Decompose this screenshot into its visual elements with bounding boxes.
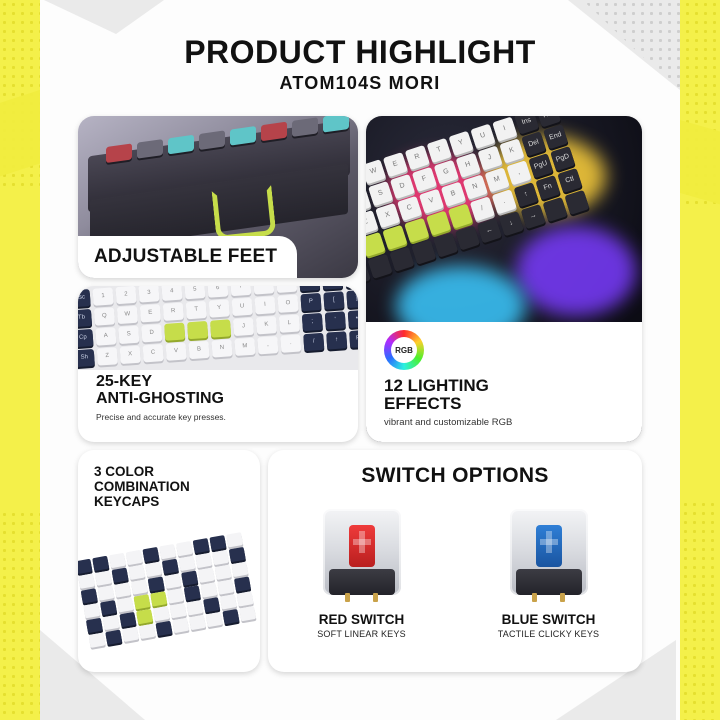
keycap: E xyxy=(140,304,161,322)
keycap: 1 xyxy=(93,287,114,305)
keycap: I xyxy=(255,296,276,314)
keycap: G xyxy=(434,160,459,185)
lighting-title-line2: EFFECTS xyxy=(384,395,512,413)
blue-switch-desc: TACTILE CLICKY KEYS xyxy=(474,629,624,639)
keycap xyxy=(170,603,187,618)
keycap: [ xyxy=(323,291,344,309)
keycap xyxy=(139,624,156,639)
keycap: 4 xyxy=(161,286,182,301)
keycap xyxy=(193,538,210,553)
keycap xyxy=(172,618,189,633)
card-anti-ghosting: Esc 1 2 3 4 5 6 7 8 9 0 - = Tb Q xyxy=(78,286,358,442)
keycap xyxy=(217,579,234,594)
keycap: / xyxy=(303,333,324,351)
keycap: T xyxy=(427,138,452,163)
keycap xyxy=(145,562,162,577)
keycap: 6 xyxy=(207,286,228,298)
adjustable-feet-label: ADJUSTABLE FEET xyxy=(78,236,297,278)
keycap: ] xyxy=(346,290,358,308)
keycap: N xyxy=(211,339,232,357)
keycap: S xyxy=(368,181,393,206)
keycap: E xyxy=(383,152,408,177)
stem-cross-horizontal xyxy=(540,539,558,545)
anti-ghosting-title-line2: ANTI-GHOSTING xyxy=(96,391,226,408)
keycap: D xyxy=(141,324,162,342)
keycap: ↑ xyxy=(514,182,539,207)
keycap: ↓ xyxy=(499,211,524,236)
keycap: U xyxy=(470,124,495,149)
switch-options-list: RED SWITCH SOFT LINEAR KEYS xyxy=(268,498,642,639)
keycap: , xyxy=(506,160,531,185)
keycap xyxy=(92,556,109,571)
keycap xyxy=(187,321,208,339)
switch-stem xyxy=(349,525,375,567)
keycap: B xyxy=(188,341,209,359)
keycap xyxy=(86,618,103,633)
keycap xyxy=(103,615,120,630)
blue-switch-photo xyxy=(474,498,624,606)
keycap xyxy=(142,547,159,562)
switch-pin xyxy=(560,593,565,602)
keycap xyxy=(164,573,181,588)
keycaps-title-line3: KEYCAPS xyxy=(94,494,190,509)
keycap: 8 xyxy=(253,286,274,295)
keycap: K xyxy=(499,138,524,163)
keycap: O xyxy=(277,295,298,313)
header: PRODUCT HIGHLIGHT ATOM104S MORI xyxy=(0,34,720,94)
anti-ghosting-title-line1: 25-KEY xyxy=(96,374,226,391)
stem-cross-horizontal xyxy=(353,539,371,545)
keycap: V xyxy=(166,342,187,360)
anti-ghosting-text: 25-KEY ANTI-GHOSTING Precise and accurat… xyxy=(96,374,226,422)
keycap xyxy=(131,579,148,594)
poster-content: PRODUCT HIGHLIGHT ATOM104S MORI ADJUSTAB… xyxy=(0,0,720,720)
keycap: K xyxy=(256,316,277,334)
keycap: W xyxy=(117,306,138,324)
keycaps-photo xyxy=(78,532,260,672)
keycap: R xyxy=(163,303,184,321)
keycap: R xyxy=(405,145,430,170)
keycap: 5 xyxy=(184,286,205,299)
lighting-subtitle: vibrant and customizable RGB xyxy=(384,417,512,428)
keycap xyxy=(181,570,198,585)
keycap: Esc xyxy=(78,289,91,307)
keycap: F xyxy=(412,167,437,192)
switch-stem xyxy=(536,525,562,567)
keycap xyxy=(222,609,239,624)
keycaps-title-line2: COMBINATION xyxy=(94,479,190,494)
keycap xyxy=(455,225,480,250)
keycap xyxy=(153,606,170,621)
keycap: J xyxy=(477,146,502,171)
keyboard-keycaps-grid xyxy=(78,532,257,650)
keycap: Del xyxy=(521,131,546,156)
keycap xyxy=(78,573,95,588)
keycap: I xyxy=(492,117,517,142)
page-title: PRODUCT HIGHLIGHT xyxy=(0,34,720,71)
keycap xyxy=(209,535,226,550)
card-switch-options: SWITCH OPTIONS RED SWITCH xyxy=(268,450,642,672)
keycap: M xyxy=(234,338,255,356)
blue-switch-name: BLUE SWITCH xyxy=(474,612,624,627)
red-switch-name: RED SWITCH xyxy=(287,612,437,627)
keycap: , xyxy=(257,336,278,354)
keycap: Tb xyxy=(78,309,92,327)
keycap xyxy=(203,597,220,612)
keycap: B xyxy=(441,182,466,207)
keycap: Cp xyxy=(78,329,93,347)
keycap: ; xyxy=(302,313,323,331)
keycap: S xyxy=(118,326,139,344)
keycap: 7 xyxy=(230,286,251,296)
keycap xyxy=(382,225,407,250)
keycap: = xyxy=(345,286,358,288)
lighting-title-line1: 12 LIGHTING xyxy=(384,377,512,395)
keycap xyxy=(95,570,112,585)
keycap xyxy=(231,562,248,577)
keycaps-text: 3 COLOR COMBINATION KEYCAPS xyxy=(94,464,190,509)
keycap xyxy=(564,190,589,215)
keycap: Sh xyxy=(78,349,95,367)
card-keycaps: 3 COLOR COMBINATION KEYCAPS xyxy=(78,450,260,672)
keycap: U xyxy=(232,298,253,316)
keycap xyxy=(210,319,231,337)
keycap xyxy=(159,544,176,559)
switch-base xyxy=(329,569,395,595)
adjustable-foot-icon xyxy=(212,185,277,241)
page-subtitle: ATOM104S MORI xyxy=(0,73,720,94)
rgb-badge-label: RGB xyxy=(391,337,417,363)
keycap: . xyxy=(492,189,517,214)
keycap: ' xyxy=(325,311,346,329)
keycap xyxy=(239,606,256,621)
keycap: C xyxy=(397,196,422,221)
keycap xyxy=(368,254,393,279)
keycap: P xyxy=(300,293,321,311)
keycap: ↑ xyxy=(326,331,347,349)
keycap: Q xyxy=(94,307,115,325)
keycap: 0 xyxy=(299,286,320,291)
switch-option-blue: BLUE SWITCH TACTILE CLICKY KEYS xyxy=(474,498,624,639)
card-adjustable-feet: ADJUSTABLE FEET xyxy=(78,116,358,278)
keycap: 2 xyxy=(115,286,136,304)
keycap: Fn xyxy=(349,330,358,348)
keycap: . xyxy=(280,334,301,352)
keycap xyxy=(220,594,237,609)
switch-pin xyxy=(373,593,378,602)
switch-housing xyxy=(510,509,588,595)
rgb-badge-icon: RGB xyxy=(384,330,424,370)
keycap xyxy=(198,568,215,583)
adjustable-feet-label-text: ADJUSTABLE FEET xyxy=(94,246,277,268)
keycap xyxy=(100,600,117,615)
keycap xyxy=(184,585,201,600)
keycap xyxy=(117,597,134,612)
keycap: Y xyxy=(209,299,230,317)
keycaps-title-line1: 3 COLOR xyxy=(94,464,190,479)
keycap xyxy=(78,559,92,574)
red-switch-desc: SOFT LINEAR KEYS xyxy=(287,629,437,639)
switch-base xyxy=(516,569,582,595)
keycap: V xyxy=(419,189,444,214)
keycap xyxy=(109,553,126,568)
switch-options-title: SWITCH OPTIONS xyxy=(268,464,642,488)
keycap: → xyxy=(521,204,546,229)
keycap xyxy=(179,556,196,571)
keycap xyxy=(186,600,203,615)
keycap: A xyxy=(95,327,116,345)
anti-ghosting-photo: Esc 1 2 3 4 5 6 7 8 9 0 - = Tb Q xyxy=(78,286,358,370)
keycap xyxy=(88,633,105,648)
card-lighting-effects: Esc Q W E R T Y U I Ins Hm Tab A S D xyxy=(366,116,642,442)
keycap: - xyxy=(322,286,343,290)
keycap xyxy=(426,211,451,236)
keycap xyxy=(195,553,212,568)
red-switch-photo xyxy=(287,498,437,606)
keycap: Z xyxy=(97,347,118,365)
keycap xyxy=(226,532,243,547)
keycap xyxy=(200,582,217,597)
switch-pin xyxy=(345,593,350,602)
keycap: N xyxy=(463,174,488,199)
keycap xyxy=(448,203,473,228)
keycap: PgU xyxy=(528,153,553,178)
keycap: M xyxy=(485,167,510,192)
keycap xyxy=(176,541,193,556)
keycap xyxy=(150,591,167,606)
keycap xyxy=(112,568,129,583)
keycap: X xyxy=(120,346,141,364)
keycap xyxy=(189,615,206,630)
keycap xyxy=(366,232,386,257)
keycap xyxy=(155,621,172,636)
keycap: ← xyxy=(477,218,502,243)
keycap xyxy=(206,612,223,627)
keycap: / xyxy=(470,196,495,221)
keycap: L xyxy=(279,314,300,332)
keycap: H xyxy=(456,153,481,178)
keycap xyxy=(81,588,98,603)
keyboard-keycaps-grid: Esc 1 2 3 4 5 6 7 8 9 0 - = Tb Q xyxy=(78,286,358,370)
keycap: W xyxy=(366,159,386,184)
keycap xyxy=(411,240,436,265)
keycap xyxy=(229,547,246,562)
keycap xyxy=(114,582,131,597)
keycap xyxy=(237,591,254,606)
switch-option-red: RED SWITCH SOFT LINEAR KEYS xyxy=(287,498,437,639)
keycap xyxy=(97,585,114,600)
keycap xyxy=(162,559,179,574)
keycap xyxy=(404,218,429,243)
anti-ghosting-subtitle: Precise and accurate key presses. xyxy=(96,412,226,422)
keycap xyxy=(105,630,122,645)
keycap: PgD xyxy=(550,146,575,171)
keycap: Fn xyxy=(535,175,560,200)
switch-pin xyxy=(532,593,537,602)
keycap xyxy=(234,576,251,591)
keycap xyxy=(126,550,143,565)
keycap xyxy=(215,565,232,580)
keycap: X xyxy=(375,203,400,228)
keycap xyxy=(164,323,185,341)
keycap xyxy=(167,588,184,603)
keycap xyxy=(433,232,458,257)
keycap: D xyxy=(390,174,415,199)
keycap xyxy=(128,565,145,580)
keycap: Y xyxy=(448,131,473,156)
keycap xyxy=(212,550,229,565)
switch-housing xyxy=(323,509,401,595)
keycap: J xyxy=(233,318,254,336)
keycap: 9 xyxy=(276,286,297,293)
keycap xyxy=(134,594,151,609)
keycap: End xyxy=(543,124,568,149)
keycap: T xyxy=(186,301,207,319)
keycap: ↵ xyxy=(348,310,358,328)
keycap xyxy=(119,612,136,627)
keycap: 3 xyxy=(138,286,159,303)
keycap xyxy=(389,247,414,272)
keycap xyxy=(83,603,100,618)
keycap xyxy=(122,627,139,642)
keycap: Ctl xyxy=(557,168,582,193)
keycap xyxy=(136,609,153,624)
keycap xyxy=(543,197,568,222)
keycap: C xyxy=(143,344,164,362)
lighting-text: 12 LIGHTING EFFECTS vibrant and customiz… xyxy=(384,377,512,428)
keycap xyxy=(148,576,165,591)
